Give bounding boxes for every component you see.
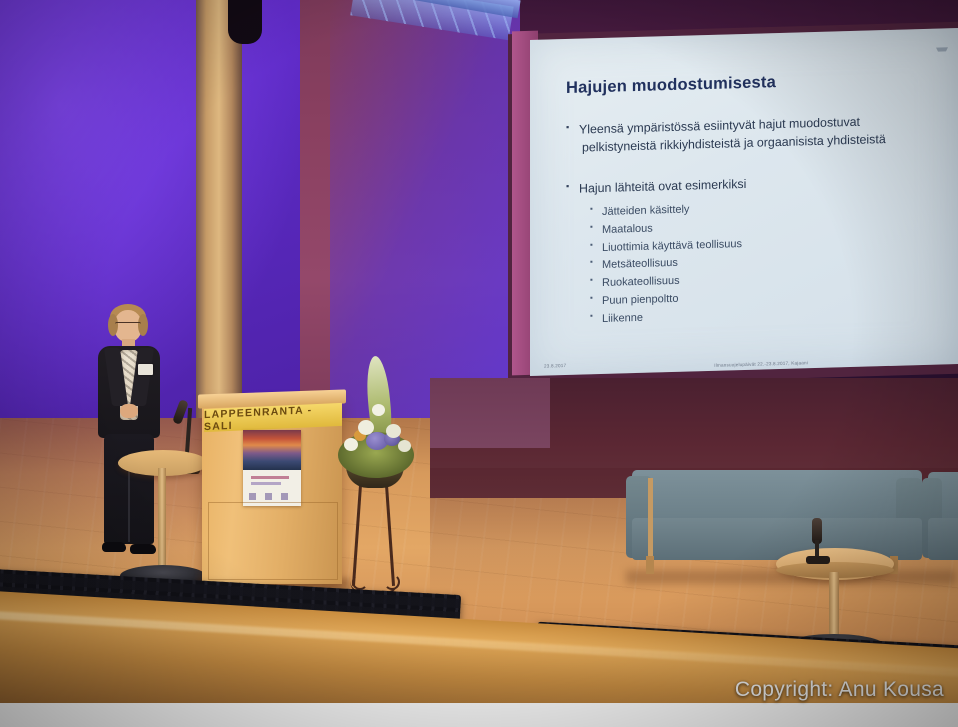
slide-corner-logo-icon [936,46,952,54]
flower-stand-scroll-left [352,574,368,590]
podium-poster [243,430,301,506]
flower-white-2 [386,424,401,438]
sofa-secondary-seat [928,518,958,560]
flower-white-1 [358,420,374,435]
presenter-shoe-left [102,542,126,552]
podium-poster-text-line-1 [251,476,289,479]
sofa-main-leg-left [646,556,654,574]
flower-stand-leg-left [352,470,363,586]
flower-white-3 [344,438,358,451]
presenter-name-badge [138,364,153,375]
round-table-left-stem [158,468,166,574]
sofa-main-wood-trim [648,478,653,558]
image-bottom-border [0,703,958,727]
microphone-base-right [806,556,830,564]
flower-stand-scroll-right [384,574,400,590]
slide-footer-event: Ilmansuojelupäivät 22.-23.8.2017, Kajaan… [714,360,808,368]
slide-sub-list: Jätteiden käsittely Maatalous Liuottimia… [566,194,944,329]
flower-white-4 [398,440,411,452]
lower-back-wall-panel [430,378,550,448]
flower-stand [352,470,396,600]
presenter-glasses [115,322,141,328]
copyright-watermark: Copyright: Anu Kousa [735,678,944,702]
podium-poster-text-line-2 [251,482,281,485]
auditorium-photo: Hajujen muodostumisesta Yleensä ympärist… [0,0,958,727]
podium-poster-logos [249,493,295,500]
slide-title: Hajujen muodostumisesta [566,68,944,98]
ceiling-speaker [228,0,262,44]
presenter-shoe-right [130,544,156,554]
podium-poster-image [243,430,301,470]
flower-white-5 [372,404,385,416]
slide-footer-date: 23.8.2017 [544,363,566,369]
projection-screen: Hajujen muodostumisesta Yleensä ympärist… [530,28,958,376]
slide-bullet-primary-1: Yleensä ympäristössä esiintyvät hajut mu… [566,111,944,158]
stage-pillar [196,0,242,430]
podium-front-panel [208,502,338,580]
presenter-hands [120,404,138,418]
